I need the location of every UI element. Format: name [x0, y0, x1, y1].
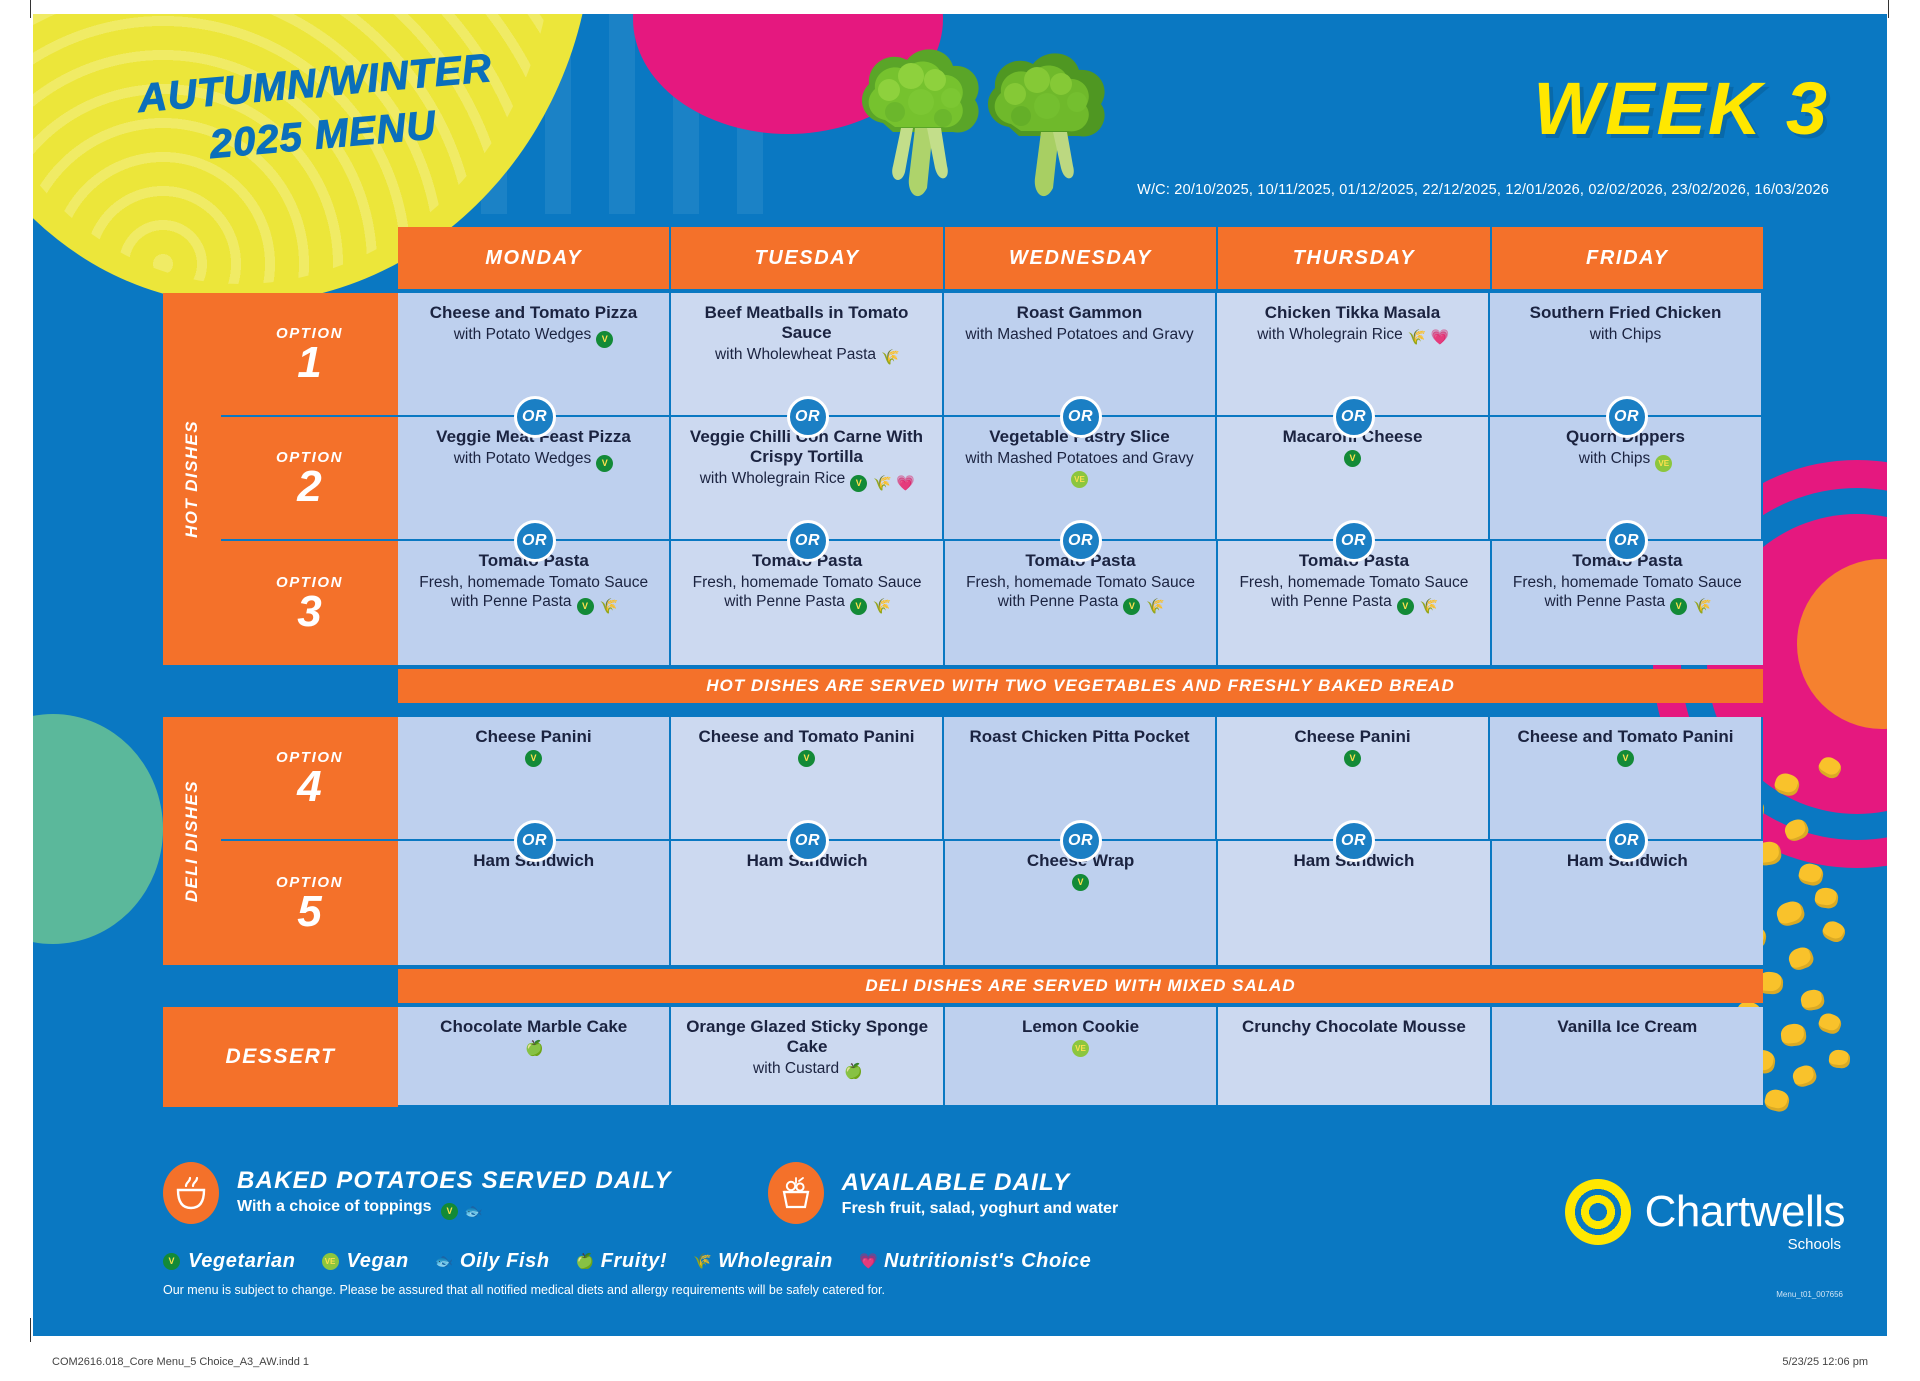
- day-headers-row: MONDAYTUESDAYWEDNESDAYTHURSDAYFRIDAY: [398, 227, 1763, 289]
- deli-option-numbers-column: OPTION4OPTION5: [221, 717, 398, 965]
- dish-icons: 🌾💗: [1408, 329, 1448, 346]
- vegetarian-icon: V: [850, 475, 867, 492]
- deli-dishes-label: DELI DISHES: [163, 717, 221, 965]
- or-divider-bubble: OR: [514, 520, 556, 562]
- hot-option-numbers-column: OPTION1OPTION2OPTION3: [221, 293, 398, 665]
- dish-name: Orange Glazed Sticky Sponge Cake: [683, 1017, 930, 1057]
- option-number: 3: [297, 591, 321, 633]
- print-slug-timestamp: 5/23/25 12:06 pm: [1782, 1356, 1868, 1368]
- dish-description: Fresh, homemade Tomato Sauce: [966, 573, 1195, 592]
- deli-row-option-4: Cheese PaniniVCheese and Tomato PaniniVR…: [398, 717, 1763, 841]
- dessert-label: DESSERT: [163, 1007, 398, 1107]
- day-header-friday: FRIDAY: [1492, 227, 1763, 289]
- fruity-icon: 🍏: [844, 1063, 861, 1080]
- or-divider-bubble: OR: [1606, 820, 1648, 862]
- dish-description: with Custard🍏: [753, 1059, 861, 1080]
- dish-description: with Wholegrain Rice🌾💗: [1257, 325, 1448, 346]
- legend-label: Oily Fish: [460, 1250, 550, 1273]
- hot-row-option-1: Cheese and Tomato Pizzawith Potato Wedge…: [398, 293, 1763, 417]
- baked-potato-icon: [163, 1162, 219, 1224]
- hot-dishes-section: HOT DISHES OPTION1OPTION2OPTION3 Cheese …: [163, 293, 1763, 665]
- vegetarian-icon: V: [850, 598, 867, 615]
- option-number: 2: [297, 466, 321, 508]
- option-number: 4: [297, 766, 321, 808]
- green-circle-decoration: [33, 714, 163, 944]
- or-divider-bubble: OR: [787, 520, 829, 562]
- dish-icons: V🌾: [1670, 598, 1710, 615]
- dish-name: Chocolate Marble Cake: [440, 1017, 627, 1037]
- dish-description-2: with Penne PastaV🌾: [724, 592, 890, 615]
- menu-poster: AUTUMN/WINTER 2025 MENU: [0, 0, 1920, 1381]
- deli-dishes-grid: Cheese PaniniVCheese and Tomato PaniniVR…: [398, 717, 1763, 965]
- available-daily-title: AVAILABLE DAILY: [842, 1169, 1119, 1197]
- crop-mark-tl-v: [30, 0, 31, 18]
- baked-potato-sub: With a choice of toppings V🐟: [237, 1198, 672, 1220]
- option-number: 1: [297, 342, 321, 384]
- hot-dishes-label: HOT DISHES: [163, 293, 221, 665]
- corn-kernel: [1786, 945, 1816, 973]
- wholegrain-icon: 🌾: [1146, 598, 1163, 615]
- menu-code: Menu_t01_007656: [1776, 1290, 1843, 1299]
- vegetarian-icon: V: [163, 1253, 180, 1270]
- deli-dishes-label-text: DELI DISHES: [182, 780, 202, 902]
- menu-title: AUTUMN/WINTER 2025 MENU: [138, 76, 608, 168]
- legend-item-fish: 🐟Oily Fish: [435, 1250, 550, 1273]
- dish-description: with Wholegrain RiceV🌾💗: [700, 469, 914, 492]
- fruit-basket-icon: [768, 1162, 824, 1224]
- print-slug-filename: COM2616.018_Core Menu_5 Choice_A3_AW.ind…: [52, 1356, 309, 1368]
- vegetarian-icon: V: [1670, 598, 1687, 615]
- menu-cell: Vanilla Ice Cream: [1492, 1007, 1763, 1107]
- vegetarian-icon: V: [1617, 750, 1634, 767]
- dish-name: Roast Gammon: [1017, 303, 1143, 323]
- fruity-icon: 🍏: [576, 1253, 593, 1270]
- dish-icons: 🍏: [525, 1040, 542, 1057]
- legend-label: Nutritionist's Choice: [884, 1250, 1091, 1273]
- legend-item-heart: 💗Nutritionist's Choice: [859, 1250, 1091, 1273]
- dish-icons: 🌾: [881, 349, 898, 366]
- fruity-icon: 🍏: [525, 1040, 542, 1057]
- baked-potato-icons: V🐟: [441, 1203, 481, 1220]
- week-commencing-dates: W/C: 20/10/2025, 10/11/2025, 01/12/2025,…: [1137, 182, 1829, 198]
- dish-name: Chicken Tikka Masala: [1265, 303, 1440, 323]
- vegetarian-icon: V: [1072, 874, 1089, 891]
- dish-description: with Potato WedgesV: [454, 325, 614, 348]
- dish-name: Beef Meatballs in Tomato Sauce: [683, 303, 930, 343]
- nutritionist-choice-icon: 💗: [1431, 329, 1448, 346]
- wholegrain-icon: 🌾: [1420, 598, 1437, 615]
- disclaimer-text: Our menu is subject to change. Please be…: [163, 1283, 1763, 1297]
- dish-name: Crunchy Chocolate Mousse: [1242, 1017, 1466, 1037]
- corn-kernel: [1780, 1023, 1807, 1047]
- legend-row: VVegetarianVEVegan🐟Oily Fish🍏Fruity!🌾Who…: [163, 1250, 1763, 1273]
- or-divider-bubble: OR: [1333, 820, 1375, 862]
- vegetarian-icon: V: [1397, 598, 1414, 615]
- corn-kernel: [1816, 754, 1845, 781]
- hot-dishes-banner: HOT DISHES ARE SERVED WITH TWO VEGETABLE…: [398, 669, 1763, 703]
- menu-cell: Crunchy Chocolate Mousse: [1218, 1007, 1491, 1107]
- dish-icons: V: [1617, 750, 1634, 767]
- day-header-tuesday: TUESDAY: [671, 227, 944, 289]
- vegetarian-icon: V: [1344, 450, 1361, 467]
- or-divider-bubble: OR: [514, 820, 556, 862]
- or-divider-bubble: OR: [514, 396, 556, 438]
- legend-item-v: VVegetarian: [163, 1250, 296, 1273]
- dish-description-2: with Penne PastaV🌾: [1271, 592, 1437, 615]
- available-daily-text: AVAILABLE DAILY Fresh fruit, salad, yogh…: [842, 1169, 1119, 1218]
- dish-icons: VE: [1071, 471, 1088, 488]
- baked-potato-title: BAKED POTATOES SERVED DAILY: [237, 1167, 672, 1195]
- legend-item-apple: 🍏Fruity!: [576, 1250, 667, 1273]
- baked-potato-text: BAKED POTATOES SERVED DAILY With a choic…: [237, 1167, 672, 1220]
- dish-icons: V: [1072, 874, 1089, 891]
- day-header-thursday: THURSDAY: [1218, 227, 1491, 289]
- oily-fish-icon: 🐟: [464, 1203, 481, 1220]
- available-daily-sub: Fresh fruit, salad, yoghurt and water: [842, 1200, 1119, 1218]
- hot-dishes-grid: Cheese and Tomato Pizzawith Potato Wedge…: [398, 293, 1763, 665]
- nutritionist-choice-icon: 💗: [896, 475, 913, 492]
- legend-label: Fruity!: [601, 1250, 667, 1273]
- dish-name: Cheese and Tomato Pizza: [430, 303, 638, 323]
- wholegrain-icon: 🌾: [873, 475, 890, 492]
- dish-icons: V: [798, 750, 815, 767]
- or-divider-bubble: OR: [1060, 396, 1102, 438]
- menu-table: MONDAYTUESDAYWEDNESDAYTHURSDAYFRIDAY HOT…: [163, 227, 1763, 1107]
- orange-circle-decoration: [1797, 559, 1887, 729]
- or-divider-bubble: OR: [1060, 520, 1102, 562]
- wholegrain-icon: 🌾: [1693, 598, 1710, 615]
- legend-item-wholegrain: 🌾Wholegrain: [693, 1250, 833, 1273]
- dish-icons: V: [525, 750, 542, 767]
- option-cell-5: OPTION5: [221, 841, 398, 965]
- vegan-icon: VE: [1071, 471, 1088, 488]
- option-cell-3: OPTION3: [221, 541, 398, 665]
- crop-mark-bl-v: [30, 1318, 31, 1342]
- or-divider-bubble: OR: [1333, 520, 1375, 562]
- vegetarian-icon: V: [525, 750, 542, 767]
- dessert-section: DESSERT Chocolate Marble Cake🍏Orange Gla…: [163, 1007, 1763, 1107]
- wholegrain-icon: 🌾: [873, 598, 890, 615]
- dish-name: Cheese and Tomato Panini: [698, 727, 914, 747]
- vegetarian-icon: V: [577, 598, 594, 615]
- daily-offers-row: BAKED POTATOES SERVED DAILY With a choic…: [163, 1162, 1763, 1224]
- dish-description: Fresh, homemade Tomato Sauce: [1239, 573, 1468, 592]
- dish-name: Southern Fried Chicken: [1530, 303, 1722, 323]
- dish-icons: V🌾: [1397, 598, 1437, 615]
- wholegrain-icon: 🌾: [600, 598, 617, 615]
- dish-description-2: with Penne PastaV🌾: [451, 592, 617, 615]
- option-number: 5: [297, 891, 321, 933]
- vegetarian-icon: V: [441, 1203, 458, 1220]
- wholegrain-icon: 🌾: [693, 1253, 710, 1270]
- corn-kernel: [1774, 899, 1806, 929]
- week-badge: WEEK 3: [1533, 66, 1829, 151]
- day-header-monday: MONDAY: [398, 227, 671, 289]
- dish-description-2: with Penne PastaV🌾: [998, 592, 1164, 615]
- dish-icons: V🌾💗: [850, 475, 913, 492]
- menu-cell: Chocolate Marble Cake🍏: [398, 1007, 671, 1107]
- dish-icons: V: [1344, 750, 1361, 767]
- legend-item-ve: VEVegan: [322, 1250, 409, 1273]
- option-cell-1: OPTION1: [221, 293, 398, 417]
- menu-cell: Orange Glazed Sticky Sponge Cakewith Cus…: [671, 1007, 944, 1107]
- corn-kernel: [1820, 918, 1848, 945]
- menu-footer: BAKED POTATOES SERVED DAILY With a choic…: [163, 1162, 1763, 1297]
- vegan-icon: VE: [322, 1253, 339, 1270]
- dessert-grid: Chocolate Marble Cake🍏Orange Glazed Stic…: [398, 1007, 1763, 1107]
- deli-dishes-banner: DELI DISHES ARE SERVED WITH MIXED SALAD: [398, 969, 1763, 1003]
- vegetarian-icon: V: [1123, 598, 1140, 615]
- or-divider-bubble: OR: [787, 820, 829, 862]
- or-divider-bubble: OR: [1333, 396, 1375, 438]
- corn-kernel: [1828, 1049, 1851, 1069]
- legend-label: Vegetarian: [188, 1250, 296, 1273]
- menu-cell: Lemon CookieVE: [945, 1007, 1218, 1107]
- dish-description: with Potato WedgesV: [454, 449, 614, 472]
- corn-kernel: [1790, 1063, 1818, 1089]
- corn-kernel: [1797, 861, 1825, 887]
- broccoli-image: [823, 28, 1113, 243]
- vegetarian-icon: V: [596, 331, 613, 348]
- dish-icons: V🌾: [577, 598, 617, 615]
- dish-description: Fresh, homemade Tomato Sauce: [419, 573, 648, 592]
- dish-description: with Mashed Potatoes and Gravy: [965, 449, 1193, 468]
- chartwells-mark-icon: [1565, 1179, 1631, 1245]
- dish-description: with Mashed Potatoes and Gravy: [965, 325, 1193, 344]
- nutritionist-choice-icon: 💗: [859, 1253, 876, 1270]
- option-cell-4: OPTION4: [221, 717, 398, 841]
- or-divider-bubble: OR: [787, 396, 829, 438]
- dish-description: with ChipsVE: [1579, 449, 1673, 472]
- deli-dishes-section: DELI DISHES OPTION4OPTION5 Cheese Panini…: [163, 717, 1763, 965]
- dish-name: Cheese Panini: [1294, 727, 1410, 747]
- dish-description: with Chips: [1590, 325, 1662, 344]
- corn-kernel: [1763, 1087, 1791, 1113]
- dish-icons: VE: [1655, 455, 1672, 472]
- print-slug: COM2616.018_Core Menu_5 Choice_A3_AW.ind…: [0, 1343, 1920, 1381]
- or-divider-bubble: OR: [1606, 396, 1648, 438]
- dish-name: Cheese and Tomato Panini: [1517, 727, 1733, 747]
- vegan-icon: VE: [1655, 455, 1672, 472]
- dish-name: Vanilla Ice Cream: [1557, 1017, 1697, 1037]
- dish-name: Lemon Cookie: [1022, 1017, 1139, 1037]
- dish-description-2: with Penne PastaV🌾: [1545, 592, 1711, 615]
- corn-kernel: [1782, 816, 1811, 843]
- vegan-icon: VE: [1072, 1040, 1089, 1057]
- dish-name: Cheese Panini: [475, 727, 591, 747]
- dish-icons: V🌾: [850, 598, 890, 615]
- option-cell-2: OPTION2: [221, 417, 398, 541]
- corn-kernel: [1772, 771, 1801, 798]
- dish-description: Fresh, homemade Tomato Sauce: [693, 573, 922, 592]
- legend-label: Wholegrain: [718, 1250, 833, 1273]
- chartwells-name: Chartwells: [1645, 1187, 1845, 1237]
- legend-label: Vegan: [347, 1250, 409, 1273]
- vegetarian-icon: V: [596, 455, 613, 472]
- dish-icons: V: [596, 455, 613, 472]
- vegetarian-icon: V: [798, 750, 815, 767]
- corn-kernel: [1816, 1011, 1843, 1036]
- hot-dishes-label-text: HOT DISHES: [182, 420, 202, 538]
- crop-mark-tr-v: [1888, 0, 1889, 18]
- dish-description: Fresh, homemade Tomato Sauce: [1513, 573, 1742, 592]
- dish-icons: 🍏: [844, 1063, 861, 1080]
- wholegrain-icon: 🌾: [881, 349, 898, 366]
- wholegrain-icon: 🌾: [1408, 329, 1425, 346]
- oily-fish-icon: 🐟: [435, 1253, 452, 1270]
- dish-description: with Wholewheat Pasta🌾: [715, 345, 898, 366]
- dish-icons: V: [596, 331, 613, 348]
- dish-icons: VE: [1072, 1040, 1089, 1057]
- or-divider-bubble: OR: [1606, 520, 1648, 562]
- or-divider-bubble: OR: [1060, 820, 1102, 862]
- vegetarian-icon: V: [1344, 750, 1361, 767]
- day-header-wednesday: WEDNESDAY: [945, 227, 1218, 289]
- poster-artboard: AUTUMN/WINTER 2025 MENU: [33, 14, 1887, 1336]
- dish-icons: V🌾: [1123, 598, 1163, 615]
- dish-icons: V: [1344, 450, 1361, 467]
- chartwells-sub: Schools: [1788, 1236, 1841, 1253]
- baked-potato-sub-text: With a choice of toppings: [237, 1198, 432, 1215]
- corn-kernel: [1799, 988, 1825, 1012]
- corn-kernel: [1814, 886, 1840, 909]
- dish-name: Roast Chicken Pitta Pocket: [969, 727, 1189, 747]
